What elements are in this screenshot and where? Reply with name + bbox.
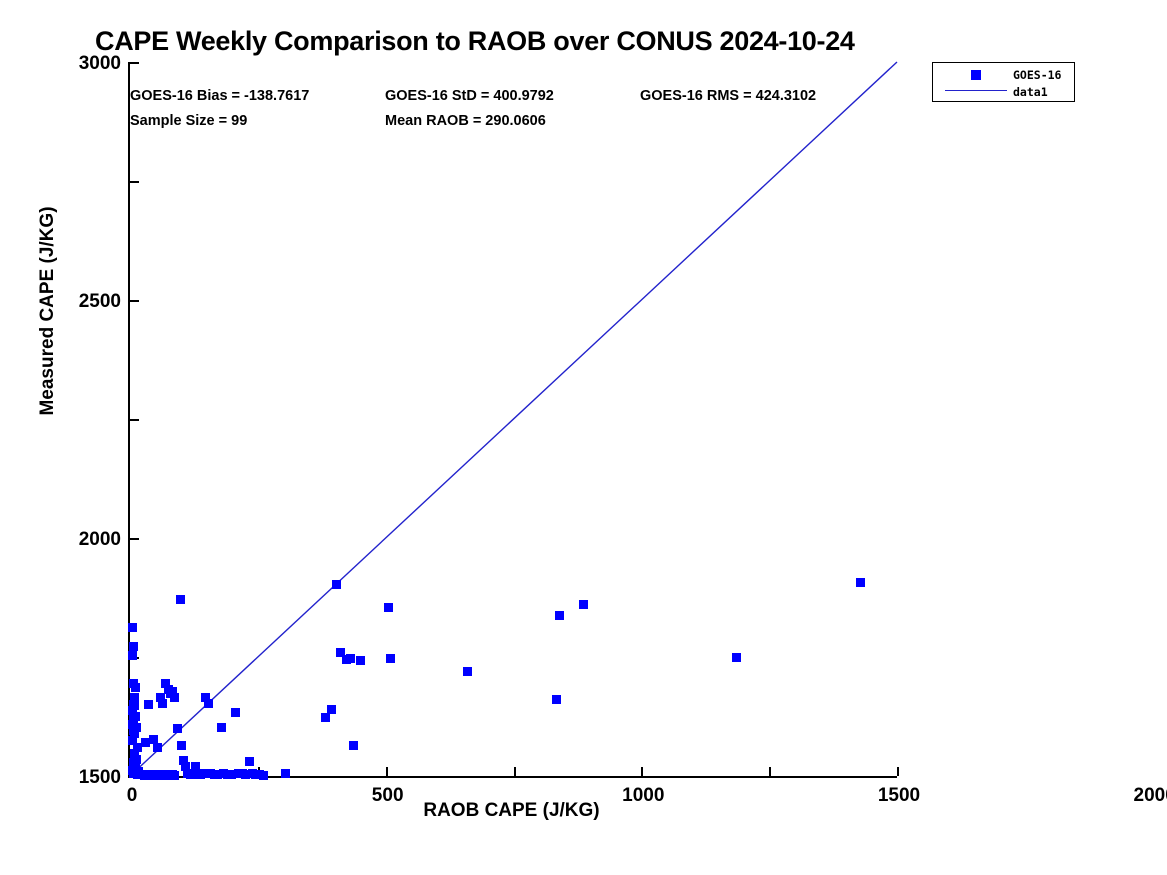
data-point (231, 708, 240, 717)
y-axis-tick: 1000 (130, 538, 139, 540)
x-axis-tick: 3000 (897, 767, 899, 776)
data-point (463, 667, 472, 676)
y-axis-tick: 3000 (130, 62, 139, 64)
data-point (204, 699, 213, 708)
data-point (170, 693, 179, 702)
data-point (129, 642, 138, 651)
x-axis-label: RAOB CAPE (J/KG) (128, 800, 895, 822)
data-point (173, 724, 182, 733)
data-point (176, 595, 185, 604)
data-point (327, 705, 336, 714)
stat-bias: GOES-16 Bias = -138.7617 (130, 88, 309, 104)
x-axis-tick: 1000 (386, 767, 388, 776)
data-point (281, 769, 290, 778)
reference-line-data1 (130, 62, 897, 776)
data-point (245, 757, 254, 766)
x-axis-tick: 1500 (514, 767, 516, 776)
data-point (158, 699, 167, 708)
data-point (177, 741, 186, 750)
chart-page: CAPE Weekly Comparison to RAOB over CONU… (0, 0, 1167, 875)
data-point (384, 603, 393, 612)
stat-mean-raob: Mean RAOB = 290.0606 (385, 113, 546, 129)
x-axis-tick-label: 2000 (1134, 785, 1167, 807)
y-axis-tick-label: 2500 (79, 291, 121, 313)
y-axis-tick-label: 2000 (79, 529, 121, 551)
legend-label-data1: data1 (1013, 85, 1048, 99)
data-point (555, 611, 564, 620)
data-point (128, 651, 137, 660)
data-point (321, 713, 330, 722)
data-point (552, 695, 561, 704)
x-axis-tick: 2000 (641, 767, 643, 776)
y-axis-tick-label: 3000 (79, 53, 121, 75)
legend-label-goes-16: GOES-16 (1013, 68, 1061, 82)
stat-sample-size: Sample Size = 99 (130, 113, 247, 129)
x-axis-tick: 2500 (769, 767, 771, 776)
data-point (856, 578, 865, 587)
legend-marker-goes-16 (971, 70, 981, 80)
y-axis-label: Measured CAPE (J/KG) (37, 11, 59, 611)
legend-line-data1 (945, 90, 1007, 91)
y-axis-tick-label: 1500 (79, 767, 121, 789)
y-axis-tick: 1500 (130, 419, 139, 421)
data-point (579, 600, 588, 609)
data-layer (130, 62, 897, 776)
data-point (386, 654, 395, 663)
legend: GOES-16 data1 (932, 62, 1075, 102)
data-point (356, 656, 365, 665)
data-point (346, 654, 355, 663)
data-point (153, 743, 162, 752)
stat-std: GOES-16 StD = 400.9792 (385, 88, 554, 104)
data-point (170, 771, 179, 780)
plot-area: 0500100015002000250030000500100015002000… (128, 62, 897, 778)
data-point (259, 771, 268, 780)
stat-rms: GOES-16 RMS = 424.3102 (640, 88, 816, 104)
data-point (144, 700, 153, 709)
data-point (131, 683, 140, 692)
y-axis-tick: 2000 (130, 300, 139, 302)
data-point (349, 741, 358, 750)
data-point (217, 723, 226, 732)
data-point (128, 623, 137, 632)
page-title: CAPE Weekly Comparison to RAOB over CONU… (95, 26, 855, 57)
y-axis-tick: 2500 (130, 181, 139, 183)
data-point (332, 580, 341, 589)
data-point (732, 653, 741, 662)
